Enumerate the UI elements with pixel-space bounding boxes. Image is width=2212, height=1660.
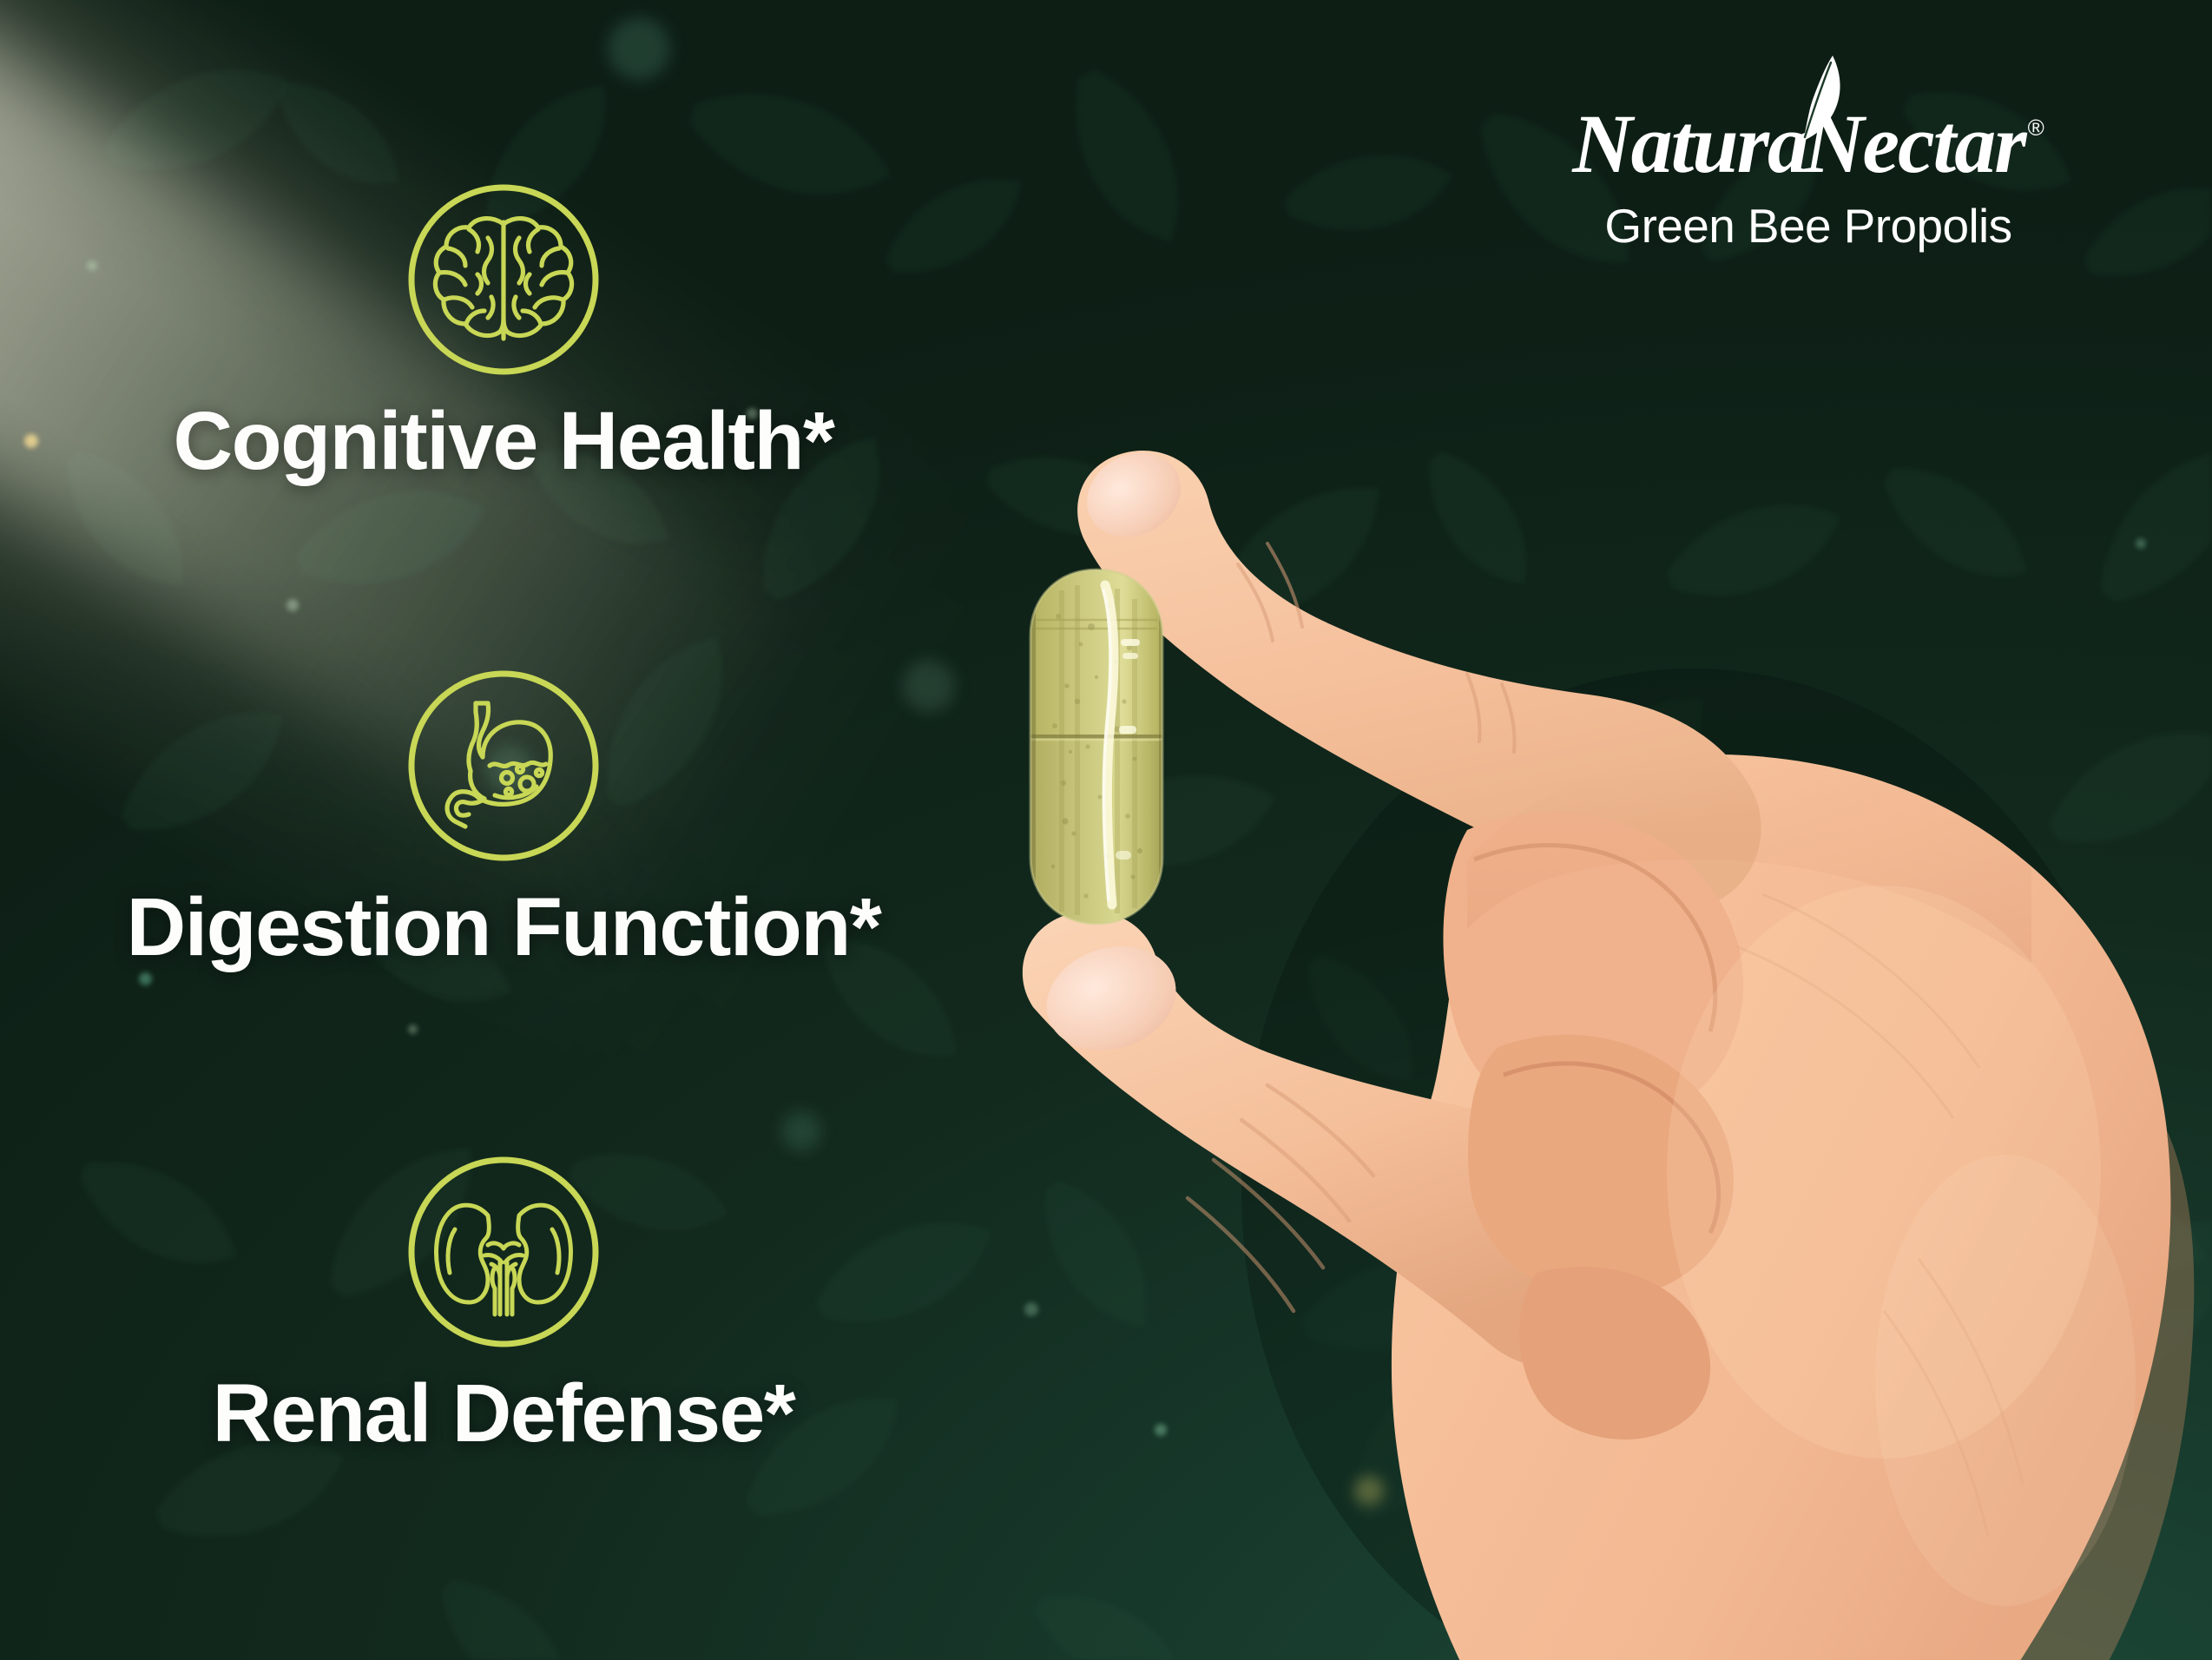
benefit-item-digestion: Digestion Function* [0,667,1007,972]
benefit-item-renal: Renal Defense* [0,1153,1007,1458]
benefit-label: Renal Defense* [0,1370,1007,1458]
benefits-list: Cognitive Health* [0,0,1007,1660]
benefit-label: Digestion Function* [0,884,1007,972]
registered-trademark-symbol: ® [2028,116,2044,139]
promo-banner: Cognitive Health* [0,0,2212,1660]
benefit-item-cognitive: Cognitive Health* [0,181,1007,485]
stomach-icon [405,667,602,865]
brand-logo: Natura Nectar ® Green Bee Propolis [1565,102,2051,254]
wordmark-nectar: Nectar [1804,102,2025,186]
brain-icon [405,181,602,379]
capsule-icon [1013,564,1180,929]
kidney-icon [405,1153,602,1351]
benefit-label: Cognitive Health* [0,398,1007,485]
brand-tagline: Green Bee Propolis [1565,198,2051,254]
brand-wordmark: Natura Nectar ® [1565,102,2051,188]
wordmark-natura: Natura [1572,102,1807,186]
